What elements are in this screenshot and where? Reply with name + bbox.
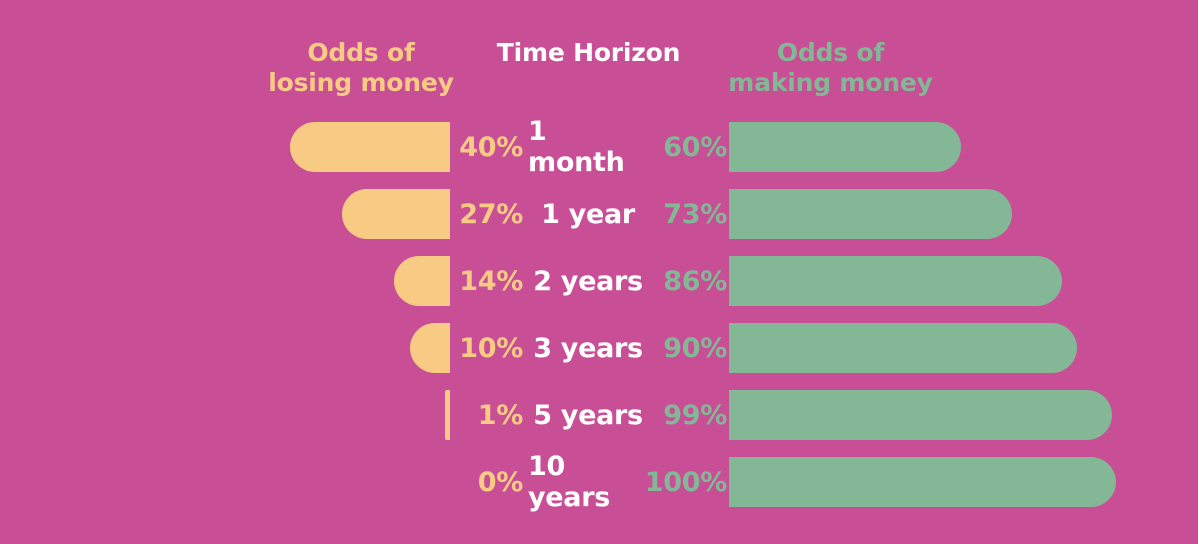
chart-row: 27%1 year73% — [0, 189, 1198, 239]
value-losing-money: 0% — [455, 457, 523, 507]
bar-making-money — [729, 457, 1116, 507]
bar-making-money — [729, 256, 1062, 306]
value-making-money: 86% — [651, 256, 727, 306]
chart-row: 10%3 years90% — [0, 323, 1198, 373]
chart-row: 40%1 month60% — [0, 122, 1198, 172]
column-header-odds-losing: Odds of losing money — [248, 38, 474, 98]
value-losing-money: 27% — [455, 189, 523, 239]
bar-losing-money — [445, 390, 450, 440]
value-losing-money: 40% — [455, 122, 523, 172]
value-losing-money: 10% — [455, 323, 523, 373]
chart-row: 0%10 years100% — [0, 457, 1198, 507]
value-making-money: 90% — [651, 323, 727, 373]
label-time-horizon: 3 years — [528, 323, 648, 373]
bar-losing-money — [342, 189, 450, 239]
value-making-money: 73% — [651, 189, 727, 239]
bar-making-money — [729, 189, 1012, 239]
label-time-horizon: 5 years — [528, 390, 648, 440]
bar-making-money — [729, 323, 1077, 373]
odds-vs-time-horizon-chart: Odds of losing money Time Horizon Odds o… — [0, 0, 1198, 544]
label-time-horizon: 2 years — [528, 256, 648, 306]
bar-losing-money — [410, 323, 450, 373]
value-making-money: 100% — [651, 457, 727, 507]
bar-losing-money — [394, 256, 450, 306]
bar-losing-money — [290, 122, 450, 172]
column-header-time-horizon: Time Horizon — [476, 38, 701, 68]
value-making-money: 99% — [651, 390, 727, 440]
chart-row: 1%5 years99% — [0, 390, 1198, 440]
column-header-odds-making: Odds of making money — [703, 38, 958, 98]
label-time-horizon: 1 year — [528, 189, 648, 239]
value-making-money: 60% — [651, 122, 727, 172]
chart-row: 14%2 years86% — [0, 256, 1198, 306]
label-time-horizon: 10 years — [528, 457, 648, 507]
bar-making-money — [729, 122, 961, 172]
bar-making-money — [729, 390, 1112, 440]
value-losing-money: 1% — [455, 390, 523, 440]
value-losing-money: 14% — [455, 256, 523, 306]
label-time-horizon: 1 month — [528, 122, 648, 172]
